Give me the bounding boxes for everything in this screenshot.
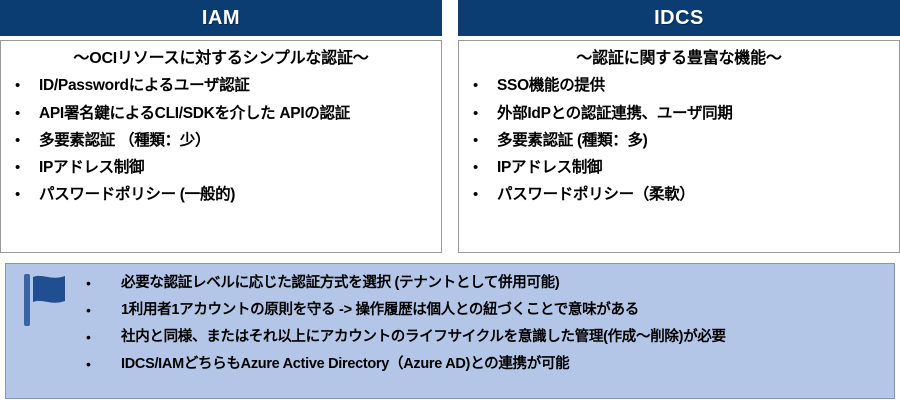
list-item: • 必要な認証レベルに応じた認証方式を選択 (テナントとして併用可能) [86,274,888,293]
bullet-icon: • [9,76,39,96]
bullet-icon: • [9,131,39,151]
list-item: • IPアドレス制御 [9,158,433,178]
bullet-icon: • [467,131,497,151]
bullet-icon: • [9,158,39,178]
bullet-icon: • [86,274,121,292]
list-item-label: 外部IdPとの認証連携、ユーザ同期 [497,104,891,124]
list-item-label: パスワードポリシー（柔軟） [497,185,891,205]
list-item: • 多要素認証 （種類：少） [9,131,433,151]
column-body-iam: ～OCIリソースに対するシンプルな認証～ • ID/Passwordによるユーザ… [0,40,442,253]
list-item-label: 1利用者1アカウントの原則を守る -> 操作履歴は個人との紐づくことで意味がある [121,301,639,320]
list-item-label: パスワードポリシー (一般的) [39,185,433,205]
column-iam: IAM ～OCIリソースに対するシンプルな認証～ • ID/Passwordによ… [0,0,442,253]
list-item-label: IPアドレス制御 [39,158,433,178]
column-subtitle-iam: ～OCIリソースに対するシンプルな認証～ [9,50,433,68]
list-item-label: 多要素認証 (種類：多) [497,131,891,151]
list-item: • ID/Passwordによるユーザ認証 [9,76,433,96]
list-item: • SSO機能の提供 [467,76,891,96]
bullet-icon: • [86,301,121,319]
list-item-label: 多要素認証 （種類：少） [39,131,433,151]
flag-icon [20,272,72,328]
column-body-idcs: ～認証に関する豊富な機能～ • SSO機能の提供 • 外部IdPとの認証連携、ユ… [458,40,900,253]
column-header-idcs: IDCS [458,0,900,36]
list-item: • パスワードポリシー（柔軟） [467,185,891,205]
list-item-label: 社内と同様、またはそれ以上にアカウントのライフサイクルを意識した管理(作成～削除… [121,328,726,347]
bullet-icon: • [467,104,497,124]
column-idcs: IDCS ～認証に関する豊富な機能～ • SSO機能の提供 • 外部IdPとの認… [458,0,900,253]
bullet-icon: • [467,76,497,96]
flag-icon-wrapper [6,264,86,333]
list-item-label: 必要な認証レベルに応じた認証方式を選択 (テナントとして併用可能) [121,274,559,293]
list-item-label: IPアドレス制御 [497,158,891,178]
bullet-icon: • [467,185,497,205]
bullet-list-iam: • ID/Passwordによるユーザ認証 • API署名鍵によるCLI/SDK… [9,76,433,205]
list-item-label: ID/Passwordによるユーザ認証 [39,76,433,96]
list-item-label: IDCS/IAMどちらもAzure Active Directory（Azure… [121,355,569,374]
list-item-label: SSO機能の提供 [497,76,891,96]
list-item: • 1利用者1アカウントの原則を守る -> 操作履歴は個人との紐づくことで意味が… [86,301,888,320]
list-item: • API署名鍵によるCLI/SDKを介した APIの認証 [9,104,433,124]
comparison-slide: IAM ～OCIリソースに対するシンプルな認証～ • ID/Passwordによ… [0,0,900,405]
list-item: • IPアドレス制御 [467,158,891,178]
bullet-icon: • [467,158,497,178]
note-bullet-list: • 必要な認証レベルに応じた認証方式を選択 (テナントとして併用可能) • 1利… [86,264,894,381]
column-subtitle-idcs: ～認証に関する豊富な機能～ [467,50,891,68]
list-item: • パスワードポリシー (一般的) [9,185,433,205]
bullet-icon: • [86,355,121,373]
list-item: • IDCS/IAMどちらもAzure Active Directory（Azu… [86,355,888,374]
list-item: • 外部IdPとの認証連携、ユーザ同期 [467,104,891,124]
bullet-icon: • [9,185,39,205]
column-header-iam: IAM [0,0,442,36]
bullet-icon: • [9,104,39,124]
bullet-icon: • [86,328,121,346]
list-item: • 社内と同様、またはそれ以上にアカウントのライフサイクルを意識した管理(作成～… [86,328,888,347]
list-item: • 多要素認証 (種類：多) [467,131,891,151]
comparison-columns: IAM ～OCIリソースに対するシンプルな認証～ • ID/Passwordによ… [0,0,900,253]
summary-note-panel: • 必要な認証レベルに応じた認証方式を選択 (テナントとして併用可能) • 1利… [5,263,895,399]
bullet-list-idcs: • SSO機能の提供 • 外部IdPとの認証連携、ユーザ同期 • 多要素認証 (… [467,76,891,205]
list-item-label: API署名鍵によるCLI/SDKを介した APIの認証 [39,104,433,124]
